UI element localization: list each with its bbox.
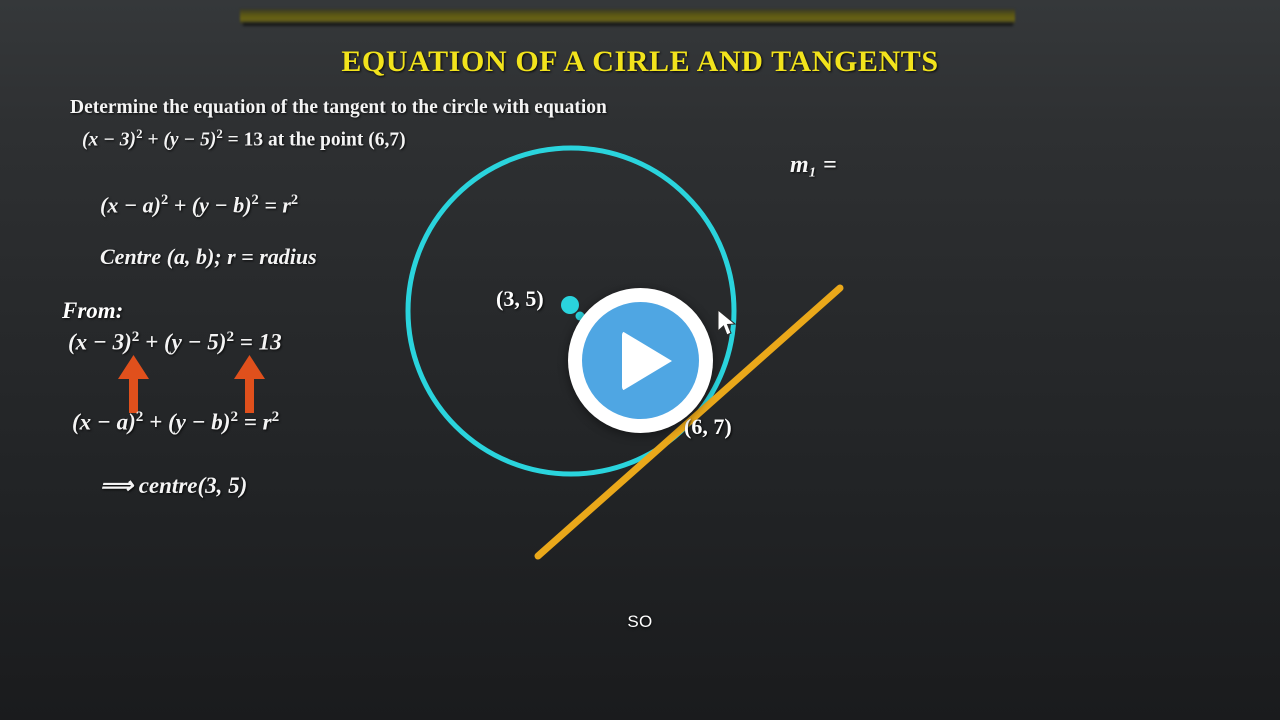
arrow-up-right <box>234 355 265 413</box>
general-eq-sup-2: 2 <box>252 192 259 208</box>
centre-point-label: (3, 5) <box>496 286 544 312</box>
problem-statement-line1: Determine the equation of the tangent to… <box>70 97 607 118</box>
play-button[interactable] <box>568 288 713 433</box>
from-eq1-part-b: + (y − 5) <box>139 330 226 355</box>
from-eq1-part-c: = 13 <box>234 330 282 355</box>
page-title: EQUATION OF A CIRLE AND TANGENTS <box>0 45 1280 79</box>
video-caption: SO <box>0 612 1280 632</box>
from-eq2-sup-3: 2 <box>272 408 280 425</box>
general-eq-part-b: + (y − b) <box>168 192 251 217</box>
general-circle-equation: (x − a)2 + (y − b)2 = r2 <box>100 192 298 218</box>
video-frame: EQUATION OF A CIRLE AND TANGENTS Determi… <box>0 0 1280 720</box>
general-eq-part-a: (x − a) <box>100 192 161 217</box>
prompt-eq-part-a: (x − 3) <box>82 130 136 151</box>
centre-result: ⟹ centre(3, 5) <box>100 473 247 499</box>
tangent-point-label: (6, 7) <box>684 414 732 440</box>
top-accent-bar-shadow <box>243 23 1013 26</box>
prompt-eq-part-b: + (y − 5) <box>143 130 217 151</box>
from-eq2-sup-2: 2 <box>230 408 238 425</box>
slope-label: m₁ = <box>790 152 837 179</box>
from-eq1-part-a: (x − 3) <box>68 330 132 355</box>
play-icon <box>622 331 672 391</box>
top-accent-bar <box>240 9 1015 24</box>
comparison-arrows <box>100 355 300 415</box>
from-eq2-part-c: = r <box>238 410 272 435</box>
play-button-disc <box>582 302 699 419</box>
specific-circle-equation: (x − 3)2 + (y − 5)2 = 13 <box>68 328 282 356</box>
centre-point-marker <box>561 296 579 314</box>
general-circle-equation-restated: (x − a)2 + (y − b)2 = r2 <box>72 408 279 436</box>
from-label: From: <box>62 298 123 324</box>
general-eq-part-c: = r <box>259 192 291 217</box>
prompt-eq-part-c: = 13 at the point (6,7) <box>223 130 406 151</box>
centre-definition: Centre (a, b); r = radius <box>100 244 317 270</box>
from-eq2-part-b: + (y − b) <box>143 410 230 435</box>
from-eq1-sup-2: 2 <box>226 328 234 345</box>
arrow-up-left <box>118 355 149 413</box>
from-eq2-part-a: (x − a) <box>72 410 136 435</box>
general-eq-sup-3: 2 <box>291 192 298 208</box>
